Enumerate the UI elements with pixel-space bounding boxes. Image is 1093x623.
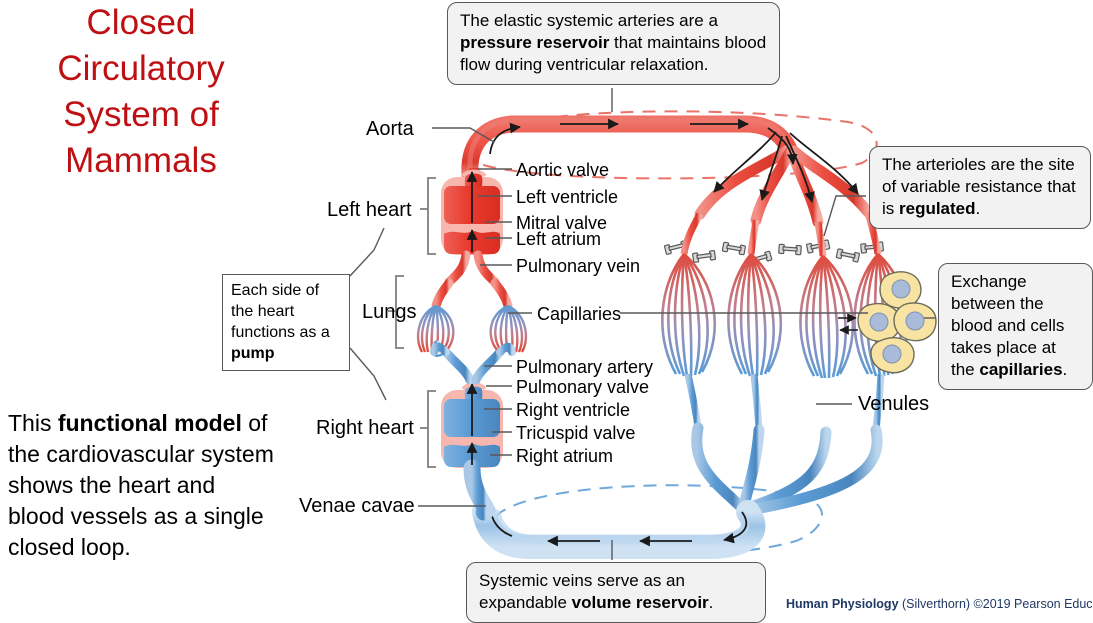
slide-canvas: Closed Circulatory System of Mammals Thi…: [0, 0, 1093, 618]
venae-cavae-vessel: [484, 512, 753, 547]
callout-arterioles-post: .: [976, 199, 981, 218]
label-capillaries: Capillaries: [537, 304, 621, 324]
arteriole-resistance-icons: [664, 240, 883, 266]
label-right-ventricle: Right ventricle: [516, 400, 630, 420]
title-line-3: System of: [10, 92, 272, 138]
callout-arteries-pre: The elastic systemic arteries are a: [460, 11, 718, 30]
publisher-credit: Human Physiology (Silverthorn) ©2019 Pea…: [786, 597, 1093, 611]
label-pulmonary-valve: Pulmonary valve: [516, 377, 649, 397]
credit-rest: (Silverthorn) ©2019 Pearson Education, I…: [899, 597, 1093, 611]
bracket-left-heart: [428, 178, 436, 254]
tissue-cell: [871, 338, 914, 373]
credit-bold: Human Physiology: [786, 597, 899, 611]
label-left-heart: Left heart: [327, 200, 412, 220]
callout-capillaries-post: .: [1063, 360, 1068, 379]
label-left-atrium: Left atrium: [516, 229, 601, 249]
intro-bold: functional model: [58, 410, 242, 436]
label-aortic-valve: Aortic valve: [516, 160, 609, 180]
label-pulmonary-artery: Pulmonary artery: [516, 357, 653, 377]
label-venae-cavae: Venae cavae: [299, 496, 415, 516]
label-right-heart: Right heart: [316, 418, 414, 438]
callout-arterioles: The arterioles are the site of variable …: [869, 146, 1091, 229]
callout-capillaries-bold: capillaries: [979, 360, 1062, 379]
intro-pre: This: [8, 410, 58, 436]
callout-arterioles-bold: regulated: [899, 199, 976, 218]
callout-heart-pump: Each side of the heart functions as a pu…: [222, 274, 350, 371]
label-pulmonary-vein: Pulmonary vein: [516, 256, 640, 276]
callout-capillary-exchange: Exchange between the blood and cells tak…: [938, 263, 1093, 390]
right-heart-organ: [441, 381, 503, 512]
callout-systemic-veins: Systemic veins serve as an expandable vo…: [466, 562, 766, 623]
intro-paragraph: This functional model of the cardiovascu…: [8, 408, 276, 563]
tissue-cell: [894, 303, 936, 341]
title-line-4: Mammals: [10, 138, 272, 184]
bracket-right-heart: [428, 391, 436, 467]
label-right-atrium: Right atrium: [516, 446, 613, 466]
title-line-2: Circulatory: [10, 46, 272, 92]
systemic-venous-tree: [697, 428, 877, 510]
callout-systemic-arteries: The elastic systemic arteries are a pres…: [447, 2, 780, 85]
callout-arteries-bold: pressure reservoir: [460, 33, 609, 52]
callout-veins-post: .: [709, 593, 714, 612]
title-line-1: Closed: [10, 0, 272, 46]
callout-veins-bold: volume reservoir: [572, 593, 709, 612]
label-lungs: Lungs: [362, 302, 417, 322]
systemic-arterial-tree: [700, 150, 868, 222]
label-venules: Venules: [858, 394, 929, 414]
label-aorta: Aorta: [366, 119, 414, 139]
callout-pump-pre: Each side of the heart functions as a: [231, 282, 330, 341]
slide-title: Closed Circulatory System of Mammals: [10, 0, 272, 184]
label-left-ventricle: Left ventricle: [516, 187, 618, 207]
callout-pump-bold: pump: [231, 345, 275, 362]
label-tricuspid-valve: Tricuspid valve: [516, 423, 635, 443]
